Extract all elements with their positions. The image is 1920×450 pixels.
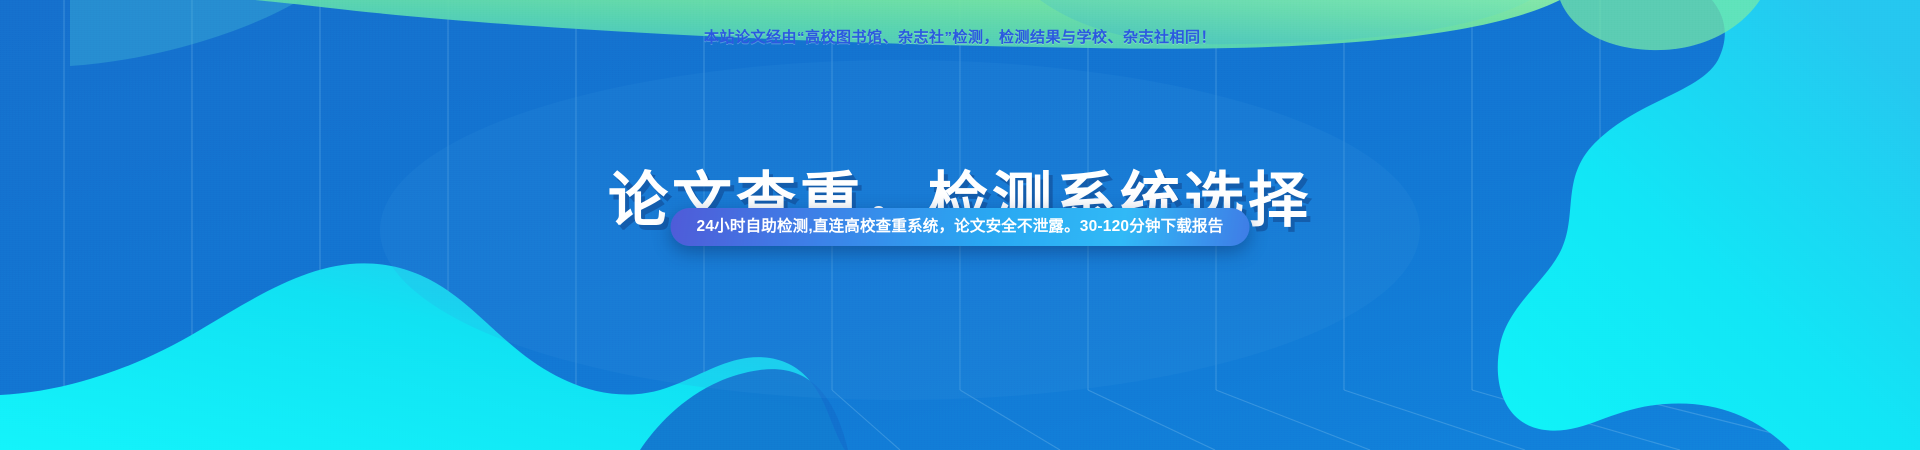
subtitle-pill[interactable]: 24小时自助检测,直连高校查重系统，论文安全不泄露。30-120分钟下载报告 xyxy=(671,208,1250,246)
subtitle-pill-label: 24小时自助检测,直连高校查重系统，论文安全不泄露。30-120分钟下载报告 xyxy=(697,208,1224,246)
promo-banner: 本站论文经由“高校图书馆、杂志社”检测，检测结果与学校、杂志社相同！ 论文查重，… xyxy=(0,0,1920,450)
top-notice-text: 本站论文经由“高校图书馆、杂志社”检测，检测结果与学校、杂志社相同！ xyxy=(0,26,1920,47)
